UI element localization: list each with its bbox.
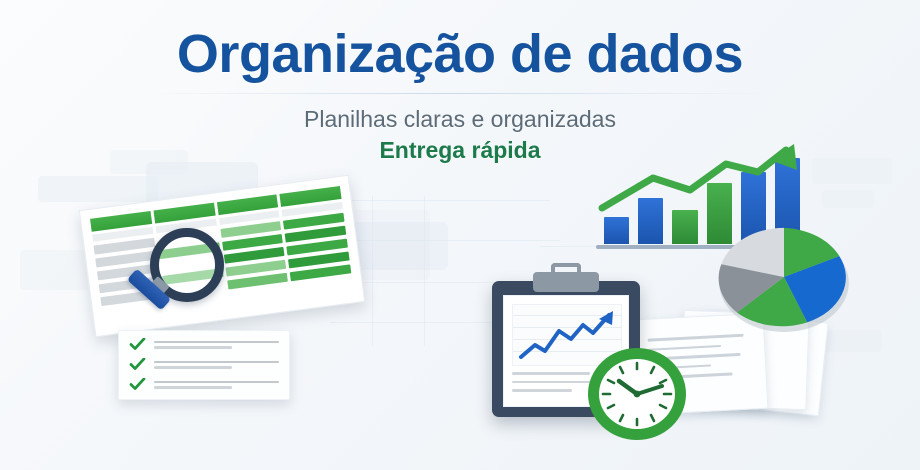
bg-rect-7 bbox=[818, 330, 882, 352]
bg-line-1 bbox=[330, 200, 550, 201]
check-icon bbox=[129, 338, 146, 351]
check-icon bbox=[129, 358, 146, 371]
clipboard-clip bbox=[533, 272, 599, 292]
checklist-card bbox=[118, 330, 290, 400]
magnifying-glass-icon bbox=[150, 228, 224, 302]
list-item-lines bbox=[154, 361, 279, 369]
spreadsheet-column bbox=[220, 221, 291, 309]
bg-rect-4 bbox=[20, 250, 90, 290]
bg-line-v2 bbox=[424, 196, 425, 346]
bg-rect-2 bbox=[38, 176, 158, 202]
pie-chart bbox=[714, 222, 854, 332]
text-line bbox=[512, 389, 572, 392]
subtitle: Planilhas claras e organizadas bbox=[0, 106, 920, 133]
list-item bbox=[129, 358, 279, 371]
list-item-lines bbox=[154, 381, 279, 389]
bar bbox=[672, 210, 697, 244]
list-item bbox=[129, 378, 279, 391]
list-item-lines bbox=[154, 341, 279, 349]
bg-line-4 bbox=[330, 322, 510, 323]
text-line bbox=[154, 361, 279, 364]
bar bbox=[604, 217, 629, 244]
text-line bbox=[154, 346, 232, 349]
text-line bbox=[154, 381, 279, 384]
text-line bbox=[154, 341, 279, 344]
bg-line-2 bbox=[330, 240, 560, 241]
bg-rect-6 bbox=[822, 190, 874, 208]
bg-line-v1 bbox=[372, 196, 373, 346]
text-line bbox=[154, 366, 232, 369]
list-item bbox=[129, 338, 279, 351]
text-line bbox=[154, 386, 232, 389]
clock-icon bbox=[586, 345, 688, 443]
header-block: Organização de dados Planilhas claras e … bbox=[0, 0, 920, 164]
spreadsheet-column bbox=[283, 213, 354, 301]
text-line bbox=[512, 372, 590, 375]
highlight-text: Entrega rápida bbox=[0, 137, 920, 164]
page-title: Organização de dados bbox=[0, 26, 920, 83]
title-divider bbox=[150, 93, 770, 94]
banner-canvas: Organização de dados Planilhas claras e … bbox=[0, 0, 920, 470]
text-line bbox=[648, 334, 744, 342]
check-icon bbox=[129, 378, 146, 391]
